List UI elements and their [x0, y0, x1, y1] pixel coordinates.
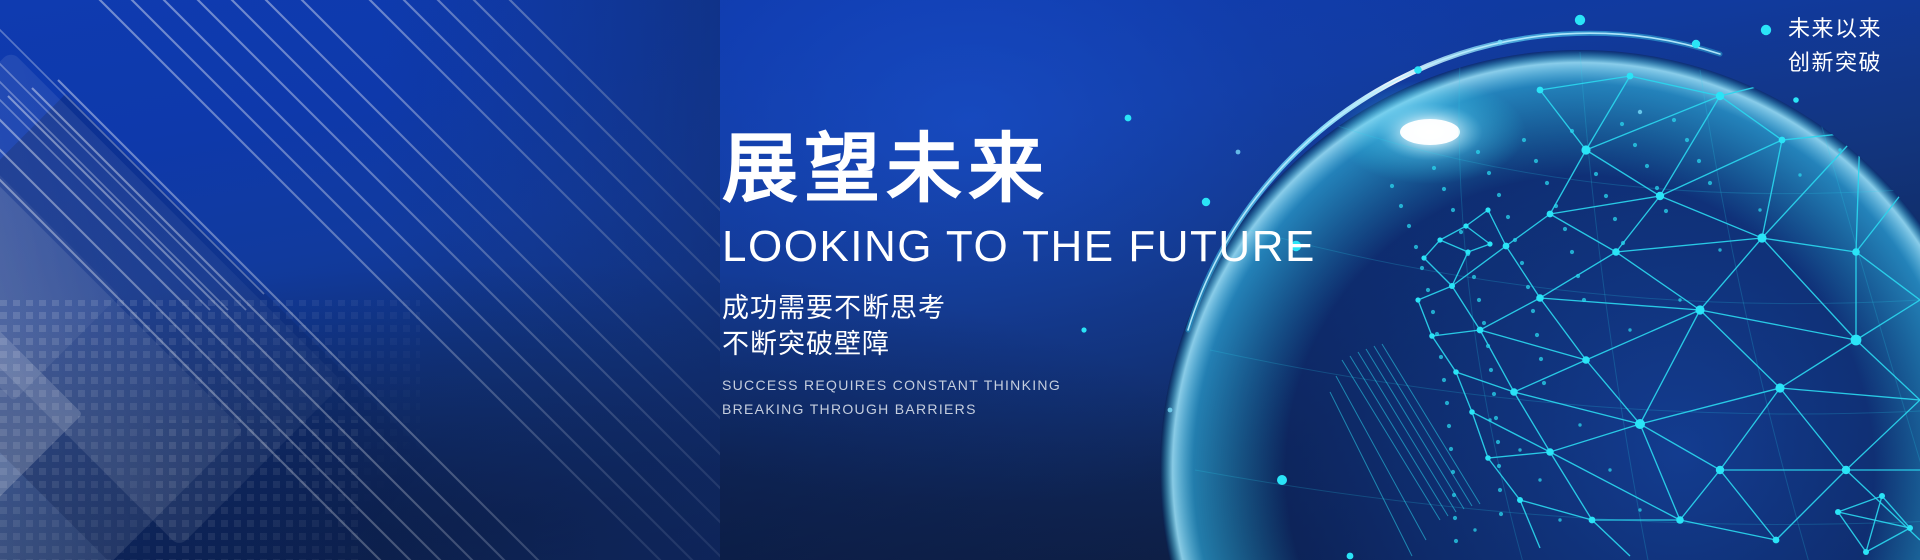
- page-subtitle-en: LOOKING TO THE FUTURE: [722, 225, 1342, 269]
- hero-copy-block: 展望未来 LOOKING TO THE FUTURE 成功需要不断思考 不断突破…: [722, 132, 1342, 421]
- corner-slogan-line-2: 创新突破: [1788, 46, 1882, 80]
- diagonal-geometric-panels: [0, 0, 720, 560]
- corner-slogan: 未来以来 创新突破: [1788, 12, 1882, 80]
- tagline-cn-line-2: 不断突破壁障: [722, 327, 1342, 363]
- corner-slogan-line-1: 未来以来: [1788, 12, 1882, 46]
- tagline-cn-line-1: 成功需要不断思考: [722, 291, 1342, 327]
- tagline-en-group: SUCCESS REQUIRES CONSTANT THINKING BREAK…: [722, 373, 1342, 421]
- tagline-en-line-1: SUCCESS REQUIRES CONSTANT THINKING: [722, 373, 1342, 397]
- tagline-cn-group: 成功需要不断思考 不断突破壁障: [722, 291, 1342, 362]
- tagline-en-line-2: BREAKING THROUGH BARRIERS: [722, 397, 1342, 421]
- hero-banner: 未来以来 创新突破 展望未来 LOOKING TO THE FUTURE 成功需…: [0, 0, 1920, 560]
- page-title: 展望未来: [722, 132, 1342, 208]
